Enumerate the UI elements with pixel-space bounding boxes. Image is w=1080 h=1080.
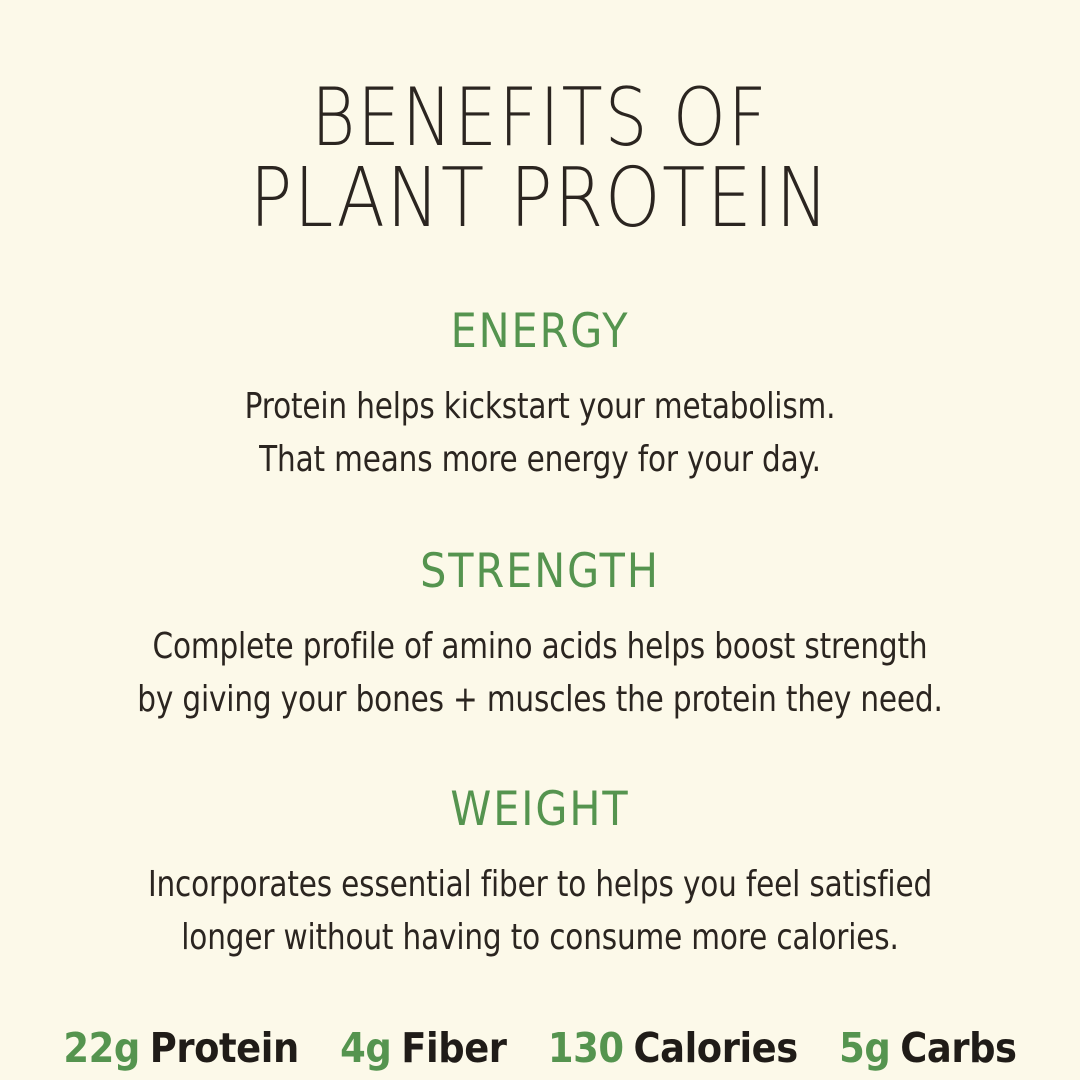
stat-protein-label: Protein (150, 1024, 299, 1072)
page-title: BENEFITS OF PLANT PROTEIN (0, 78, 1080, 240)
page-title-line-1: BENEFITS OF (86, 78, 993, 158)
section-body-weight-line-1: Incorporates essential fiber to helps yo… (97, 858, 983, 911)
stat-calories-label: Calories (634, 1024, 798, 1072)
section-weight: WEIGHT Incorporates essential fiber to h… (0, 784, 1080, 964)
stat-carbs: 5g Carbs (839, 1024, 1016, 1072)
stat-protein: 22g Protein (63, 1024, 298, 1072)
section-body-energy: Protein helps kickstart your metabolism.… (97, 380, 983, 486)
plant-protein-benefits-poster: BENEFITS OF PLANT PROTEIN ENERGY Protein… (0, 0, 1080, 1080)
section-heading-weight: WEIGHT (65, 784, 1015, 836)
section-body-strength-line-2: by giving your bones + muscles the prote… (97, 673, 983, 726)
section-strength: STRENGTH Complete profile of amino acids… (0, 546, 1080, 726)
stat-protein-value: 22g (63, 1024, 139, 1072)
stat-calories-value: 130 (548, 1024, 624, 1072)
section-body-strength: Complete profile of amino acids helps bo… (97, 620, 983, 726)
section-body-energy-line-2: That means more energy for your day. (97, 433, 983, 486)
stat-carbs-label: Carbs (900, 1024, 1016, 1072)
stat-carbs-value: 5g (839, 1024, 890, 1072)
section-heading-strength: STRENGTH (65, 546, 1015, 598)
section-body-weight: Incorporates essential fiber to helps yo… (97, 858, 983, 964)
stat-fiber-label: Fiber (401, 1024, 506, 1072)
nutrition-stats-row: 22g Protein 4g Fiber 130 Calories 5g Car… (54, 1024, 1026, 1072)
section-body-weight-line-2: longer without having to consume more ca… (97, 911, 983, 964)
section-energy: ENERGY Protein helps kickstart your meta… (0, 306, 1080, 486)
stat-fiber-value: 4g (340, 1024, 391, 1072)
stat-fiber: 4g Fiber (340, 1024, 506, 1072)
stat-calories: 130 Calories (548, 1024, 798, 1072)
section-body-energy-line-1: Protein helps kickstart your metabolism. (97, 380, 983, 433)
page-title-line-2: PLANT PROTEIN (76, 158, 1005, 240)
section-heading-energy: ENERGY (65, 306, 1015, 358)
section-body-strength-line-1: Complete profile of amino acids helps bo… (97, 620, 983, 673)
